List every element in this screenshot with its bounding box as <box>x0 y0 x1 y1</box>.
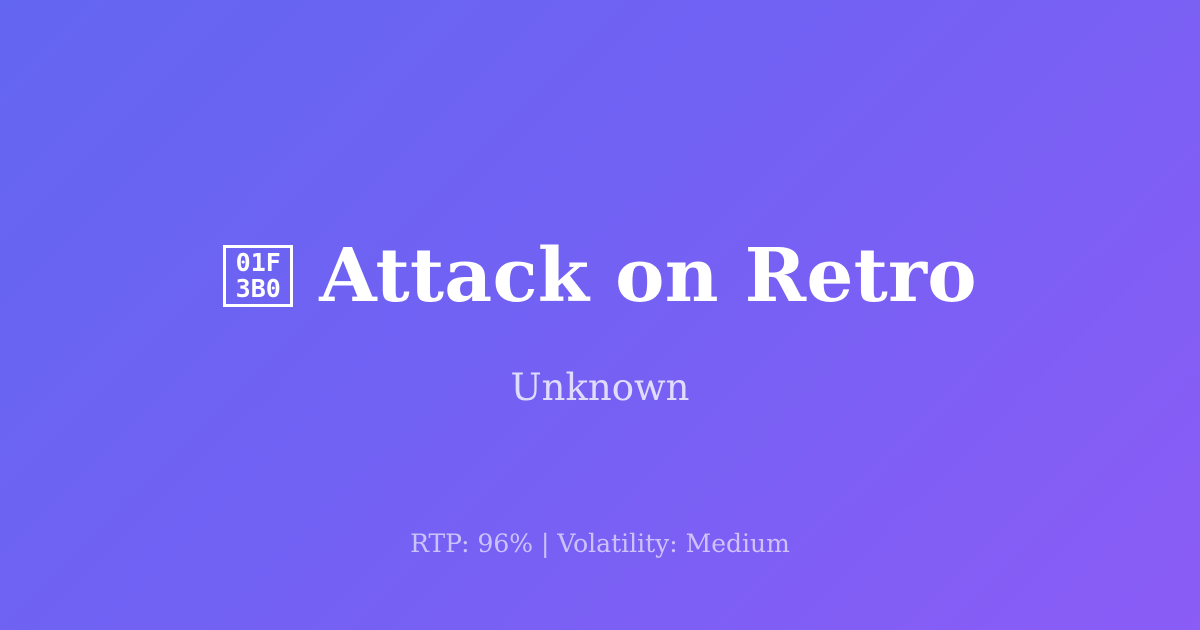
emoji-codepoint-lower: 3B0 <box>236 276 281 302</box>
page-title: Attack on Retro <box>319 228 977 324</box>
og-share-card: 01F 3B0 Attack on Retro Unknown RTP: 96%… <box>0 0 1200 630</box>
emoji-codepoint-upper: 01F <box>236 250 281 276</box>
provider-label: Unknown <box>0 366 1200 410</box>
slot-machine-emoji-icon: 01F 3B0 <box>223 245 293 307</box>
title-row: 01F 3B0 Attack on Retro <box>0 228 1200 324</box>
game-meta-line: RTP: 96% | Volatility: Medium <box>0 528 1200 560</box>
